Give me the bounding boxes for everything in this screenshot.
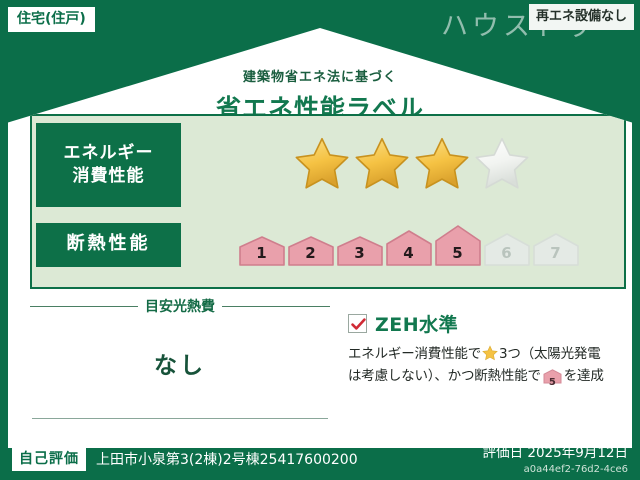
badge-building-type: 住宅(住戸) <box>8 7 95 32</box>
inline-grade-value: 5 <box>543 375 562 391</box>
grade-value: 7 <box>533 244 579 262</box>
check-icon <box>350 316 367 333</box>
grade-value: 6 <box>484 244 530 262</box>
insulation-grade-4: 4 <box>386 230 432 266</box>
zeh-description: エネルギー消費性能で3つ（太陽光発電は考慮しない）、かつ断熱性能で5を達成 <box>348 344 626 392</box>
zeh-standard-block: ZEH水準 エネルギー消費性能で3つ（太陽光発電は考慮しない）、かつ断熱性能で5… <box>348 310 626 392</box>
insulation-grade-3: 3 <box>337 236 383 266</box>
energy-performance-label: エネルギー 消費性能 <box>36 123 181 207</box>
insulation-performance-row: 断熱性能 1234567 <box>32 210 624 287</box>
badge-renewable-equipment: 再エネ設備なし <box>529 4 634 30</box>
property-address: 上田市小泉第3(2棟)2号棟25417600200 <box>96 449 358 469</box>
heading-rule-left <box>30 306 138 307</box>
zeh-desc-part1: エネルギー消費性能で <box>348 346 481 362</box>
inline-grade-badge: 5 <box>543 369 562 392</box>
insulation-grade-scale: 1234567 <box>193 225 624 272</box>
zeh-desc-part2: は考慮しない）、かつ断熱性能で <box>348 368 541 384</box>
lower-divider <box>32 418 328 419</box>
grade-value: 2 <box>288 244 334 262</box>
insulation-grade-7: 7 <box>533 233 579 266</box>
heading-rule-right <box>222 306 330 307</box>
star-filled-icon <box>294 135 350 191</box>
zeh-heading: ZEH水準 <box>348 310 626 337</box>
grade-value: 1 <box>239 244 285 262</box>
utility-cost-block: 目安光熱費 なし <box>30 296 330 380</box>
star-filled-icon <box>414 135 470 191</box>
zeh-title: ZEH水準 <box>375 310 458 337</box>
grade-value: 3 <box>337 244 383 262</box>
zeh-desc-star-count: 3つ（太陽光発電 <box>499 346 601 362</box>
lower-section: 目安光熱費 なし ZEH水準 エネルギー消費性能で3つ（太陽光発電は考慮しない） <box>30 296 626 446</box>
energy-label-line2: 消費性能 <box>73 166 145 186</box>
performance-panel: エネルギー 消費性能 断熱性能 1234567 <box>30 114 626 289</box>
energy-performance-row: エネルギー 消費性能 <box>32 116 624 210</box>
energy-label-line1: エネルギー <box>64 143 154 163</box>
star-empty-icon <box>474 135 530 191</box>
energy-star-rating <box>199 135 624 191</box>
evaluation-id: a0a44ef2-76d2-4ce6 <box>524 464 628 475</box>
insulation-grade-6: 6 <box>484 233 530 266</box>
grade-value: 4 <box>386 244 432 262</box>
energy-label-card: ハウスドゥ 住宅(住戸) 再エネ設備なし 建築物省エネ法に基づく 省エネ性能ラベ… <box>0 0 640 480</box>
utility-cost-heading-text: 目安光熱費 <box>145 296 215 316</box>
footer: 自己評価 上田市小泉第3(2棟)2号棟25417600200 評価日 2025年… <box>0 448 640 480</box>
insulation-grade-1: 1 <box>239 236 285 266</box>
zeh-checkbox[interactable] <box>348 314 367 333</box>
evaluation-date: 評価日 2025年9月12日 <box>483 441 628 461</box>
utility-cost-heading: 目安光熱費 <box>30 296 330 316</box>
star-filled-icon <box>354 135 410 191</box>
insulation-grade-2: 2 <box>288 236 334 266</box>
zeh-desc-part3: を達成 <box>564 368 604 384</box>
self-evaluation-badge: 自己評価 <box>12 448 86 471</box>
insulation-performance-label: 断熱性能 <box>36 223 181 267</box>
utility-cost-value: なし <box>30 346 330 380</box>
grade-value: 5 <box>435 244 481 262</box>
inline-star-icon <box>482 345 498 361</box>
title-subtitle: 建築物省エネ法に基づく <box>8 66 632 85</box>
insulation-grade-5: 5 <box>435 225 481 266</box>
label-sheet: 建築物省エネ法に基づく 省エネ性能ラベル エネルギー 消費性能 断熱性能 123… <box>8 28 632 448</box>
